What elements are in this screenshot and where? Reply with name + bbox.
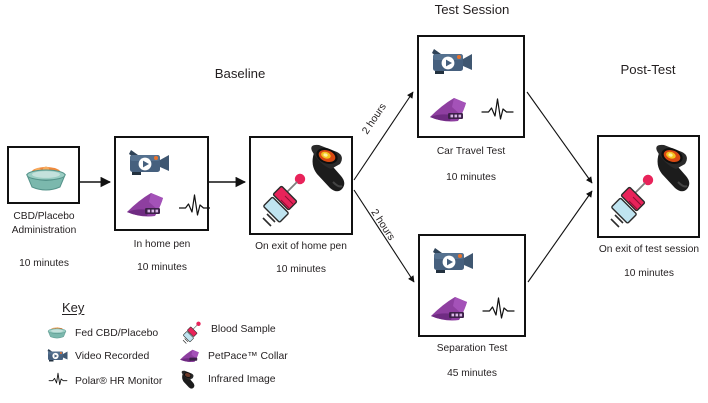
caption-cbd-administration: CBD/Placebo Administration (3, 210, 85, 237)
node-separation-test[interactable] (418, 234, 526, 337)
food-bowl-icon (46, 324, 68, 343)
node-on-exit-of-home-pen[interactable] (249, 136, 353, 235)
caption-in-home-pen: In home pen (108, 238, 216, 252)
key-title: Key (62, 300, 84, 315)
duration-in-home-pen: 10 minutes (108, 262, 216, 273)
duration-separation-test: 45 minutes (413, 368, 531, 379)
duration-car-travel-test: 10 minutes (412, 172, 530, 183)
key-item-video-recorded: Video Recorded (46, 347, 149, 366)
duration-on-exit-of-test-session: 10 minutes (590, 268, 708, 279)
node-cbd-administration[interactable] (7, 146, 80, 204)
key-item-label: Infrared Image (208, 374, 276, 385)
petpace-collar-icon (428, 93, 476, 127)
key-item-polar-hr-monitor: Polar® HR Monitor (46, 372, 162, 391)
key-item-fed-cbd-placebo: Fed CBD/Placebo (46, 324, 158, 343)
key-item-label: Polar® HR Monitor (75, 376, 162, 387)
key-item-label: Video Recorded (75, 351, 149, 362)
node-on-exit-of-test-session[interactable] (597, 135, 700, 238)
video-camera-icon (46, 347, 68, 366)
infrared-camera-icon (179, 370, 201, 389)
petpace-collar-icon (429, 292, 477, 326)
key-item-label: Fed CBD/Placebo (75, 328, 158, 339)
petpace-collar-icon (125, 188, 173, 222)
video-camera-icon (429, 45, 475, 75)
key-item-petpace-collar: PetPace™ Collar (179, 347, 288, 366)
heart-rate-icon (481, 97, 514, 123)
blood-syringe-icon (182, 320, 204, 339)
petpace-collar-icon (179, 347, 201, 366)
heart-rate-icon (46, 372, 68, 391)
node-car-travel-test[interactable] (417, 35, 525, 138)
key-item-label: Blood Sample (211, 324, 276, 335)
video-camera-icon (430, 244, 476, 274)
key-legend: Key Fed CBD/Placebo (46, 300, 316, 400)
heart-rate-icon (179, 193, 210, 219)
caption-separation-test: Separation Test (413, 342, 531, 356)
arrow-separation-to-post-test (528, 191, 592, 282)
duration-cbd-administration: 10 minutes (3, 258, 85, 269)
blood-syringe-icon (609, 171, 656, 233)
phase-title-post-test: Post-Test (592, 62, 704, 77)
heart-rate-icon (482, 296, 515, 322)
video-camera-icon (126, 146, 172, 176)
diagram-canvas: Baseline Test Session Post-Test CBD/Plac… (0, 0, 708, 403)
caption-on-exit-of-home-pen: On exit of home pen (242, 240, 360, 254)
node-in-home-pen[interactable] (114, 136, 209, 231)
key-item-blood-sample: Blood Sample (182, 320, 276, 339)
blood-syringe-icon (261, 170, 308, 232)
key-item-label: PetPace™ Collar (208, 351, 288, 362)
edge-label-to-separation: 2 hours (368, 208, 396, 243)
duration-on-exit-of-home-pen: 10 minutes (242, 264, 360, 275)
arrow-car-travel-to-post-test (527, 92, 592, 183)
phase-title-baseline: Baseline (178, 66, 302, 81)
caption-car-travel-test: Car Travel Test (412, 145, 530, 159)
caption-on-exit-of-test-session: On exit of test session (590, 243, 708, 257)
key-item-infrared-image: Infrared Image (179, 370, 276, 389)
edge-label-to-car-travel: 2 hours (360, 102, 389, 137)
phase-title-test-session: Test Session (409, 2, 535, 17)
infrared-camera-icon (651, 143, 697, 205)
infrared-camera-icon (306, 143, 352, 205)
food-bowl-icon (23, 160, 69, 194)
